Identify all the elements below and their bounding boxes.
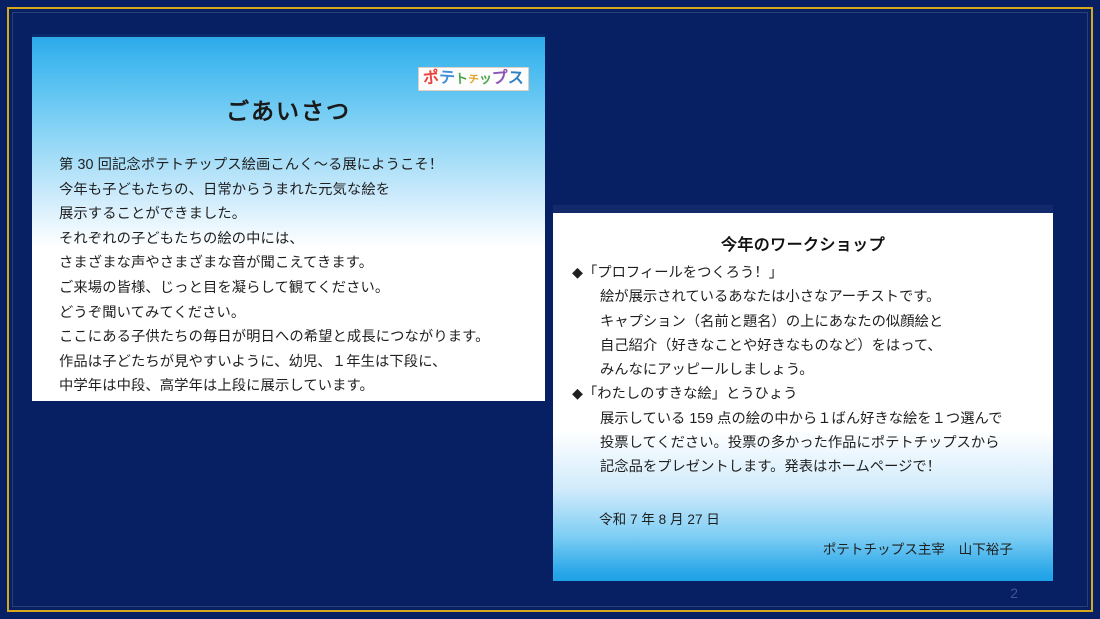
greeting-line: ご来場の皆様、じっと目を凝らして観てください。 xyxy=(59,276,545,301)
logo-char-5: ッ xyxy=(479,73,493,87)
workshop-card-top-edge xyxy=(553,205,1053,213)
greeting-line: どうぞ聞いてみてください。 xyxy=(59,301,545,326)
workshop-detail-line: 記念品をプレゼントします。発表はホームページで！ xyxy=(584,455,1053,479)
greeting-line: ここにある子供たちの毎日が明日への希望と成長につながります。 xyxy=(59,325,545,350)
logo-char-6: プ xyxy=(491,69,508,86)
logo-char-1: ポ xyxy=(422,69,440,87)
workshop-detail-line: 展示している 159 点の絵の中から１ばん好きな絵を１つ選んで xyxy=(584,407,1053,431)
greeting-card: ポテトチップス ごあいさつ 第 30 回記念ポテトチップス絵画こんく～る展によう… xyxy=(32,34,545,401)
workshop-body: ◆「プロフィールをつくろう！」 絵が展示されているあなたは小さなアーチストです。… xyxy=(584,261,1053,480)
workshop-signature: ポテトチップス主宰 山下裕子 xyxy=(553,538,1013,558)
workshop-card: 今年のワークショップ ◆「プロフィールをつくろう！」 絵が展示されているあなたは… xyxy=(553,205,1053,581)
workshop-item-heading-text: 「わたしのすきな絵」とうひょう xyxy=(583,386,797,402)
greeting-line: 今年も子どもたちの、日常からうまれた元気な絵を xyxy=(59,178,545,203)
logo-char-3: ト xyxy=(455,73,469,87)
greeting-line: 中学年は中段、高学年は上段に展示しています。 xyxy=(59,374,545,399)
page-number: 2 xyxy=(1010,585,1018,601)
workshop-item-heading: ◆「わたしのすきな絵」とうひょう xyxy=(572,382,1053,406)
greeting-card-top-edge xyxy=(32,34,545,37)
logo-char-4: チ xyxy=(467,73,479,85)
greeting-line: さまざまな声やさまざまな音が聞こえてきます。 xyxy=(59,251,545,276)
greeting-body: 第 30 回記念ポテトチップス絵画こんく～る展にようこそ！ 今年も子どもたちの、… xyxy=(59,153,545,399)
greeting-line: それぞれの子どもたちの絵の中には、 xyxy=(59,227,545,252)
workshop-detail-line: 自己紹介（好きなことや好きなものなど）をはって、 xyxy=(584,334,1053,358)
diamond-bullet-icon: ◆ xyxy=(572,386,583,402)
potato-chips-logo: ポテトチップス xyxy=(418,67,529,91)
workshop-item-heading: ◆「プロフィールをつくろう！」 xyxy=(572,261,1053,285)
workshop-detail-line: キャプション（名前と題名）の上にあなたの似顔絵と xyxy=(584,310,1053,334)
greeting-line: 作品は子どたちが見やすいように、幼児、１年生は下段に、 xyxy=(59,350,545,375)
greeting-line: 展示することができました。 xyxy=(59,202,545,227)
greeting-line: 第 30 回記念ポテトチップス絵画こんく～る展にようこそ！ xyxy=(59,153,545,178)
workshop-detail-line: みんなにアッピールしましょう。 xyxy=(584,358,1053,382)
diamond-bullet-icon: ◆ xyxy=(572,265,583,281)
workshop-detail-line: 絵が展示されているあなたは小さなアーチストです。 xyxy=(584,285,1053,309)
greeting-title: ごあいさつ xyxy=(32,92,545,126)
workshop-detail-line: 投票してください。投票の多かった作品にポテトチップスから xyxy=(584,431,1053,455)
logo-char-2: テ xyxy=(438,69,455,86)
workshop-item-heading-text: 「プロフィールをつくろう！」 xyxy=(583,265,783,281)
logo-char-7: ス xyxy=(508,70,525,87)
presentation-slide: ポテトチップス ごあいさつ 第 30 回記念ポテトチップス絵画こんく～る展によう… xyxy=(0,0,1100,619)
workshop-date: 令和 7 年 8 月 27 日 xyxy=(599,508,1053,528)
workshop-title: 今年のワークショップ xyxy=(553,231,1053,255)
